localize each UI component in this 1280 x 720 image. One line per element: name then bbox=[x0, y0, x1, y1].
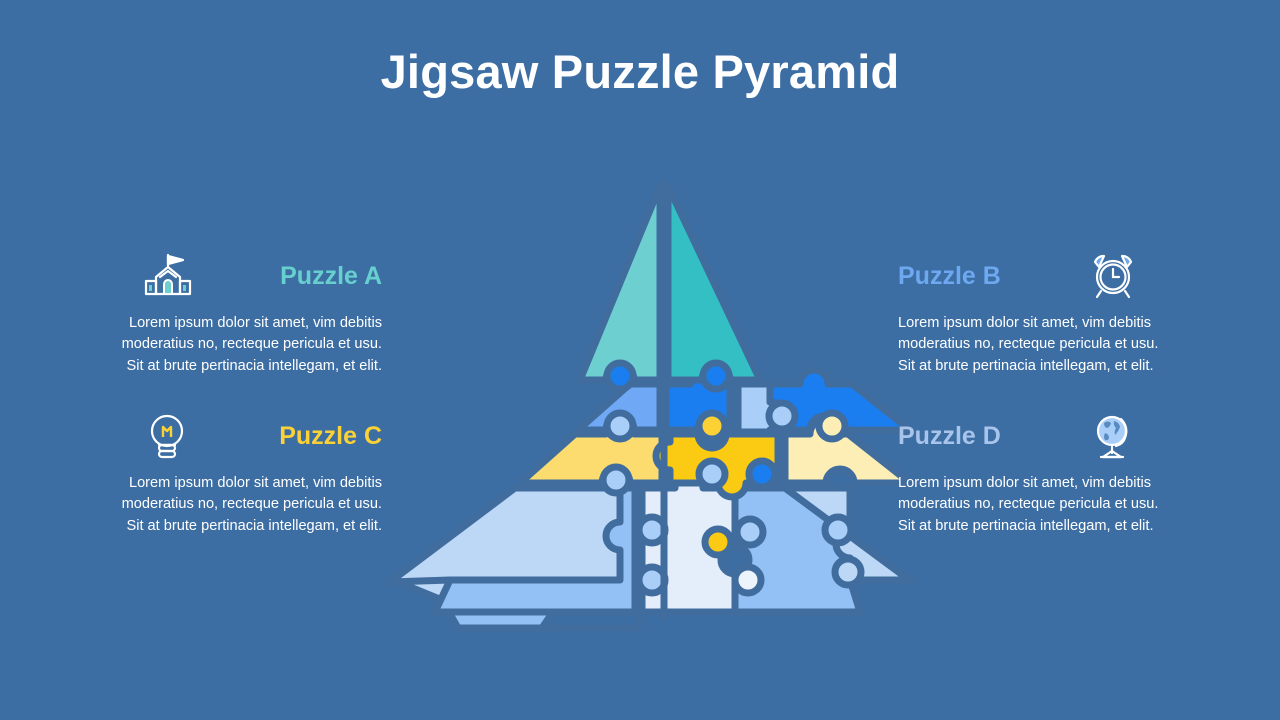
lightbulb-icon bbox=[139, 410, 195, 462]
knob-9 bbox=[603, 467, 629, 493]
page-title: Jigsaw Puzzle Pyramid bbox=[0, 44, 1280, 99]
block-body: Lorem ipsum dolor sit amet, vim debitis … bbox=[898, 473, 1218, 537]
knob-4 bbox=[607, 413, 633, 439]
body-line: Sit at brute pertinacia intellegam, et e… bbox=[898, 516, 1218, 537]
knob-12 bbox=[825, 517, 851, 543]
body-line: Sit at brute pertinacia intellegam, et e… bbox=[898, 356, 1218, 377]
block-header: Puzzle C bbox=[62, 408, 382, 464]
block-header: Puzzle B bbox=[898, 248, 1218, 304]
content-block-puzzle-c: Puzzle C Lorem ipsum dolor sit amet, vim… bbox=[62, 408, 382, 537]
knob-3 bbox=[769, 403, 795, 429]
piece-apex-left bbox=[580, 186, 660, 380]
knob-6 bbox=[819, 413, 845, 439]
knob-8 bbox=[749, 461, 775, 487]
block-body: Lorem ipsum dolor sit amet, vim debitis … bbox=[62, 313, 382, 377]
body-line: moderatius no, recteque pericula et usu. bbox=[62, 494, 382, 515]
block-header: Puzzle D bbox=[898, 408, 1218, 464]
body-line: moderatius no, recteque pericula et usu. bbox=[898, 334, 1218, 355]
tier-apex bbox=[580, 186, 760, 380]
body-line: moderatius no, recteque pericula et usu. bbox=[898, 494, 1218, 515]
slide-canvas: Jigsaw Puzzle Pyramid bbox=[0, 0, 1280, 720]
jigsaw-puzzle-pyramid bbox=[330, 150, 970, 670]
block-body: Lorem ipsum dolor sit amet, vim debitis … bbox=[62, 473, 382, 537]
block-title: Puzzle B bbox=[898, 264, 1001, 289]
body-line: Lorem ipsum dolor sit amet, vim debitis bbox=[62, 473, 382, 494]
block-title: Puzzle C bbox=[279, 424, 382, 449]
content-block-puzzle-b: Puzzle B Lorem ipsum dolor sit amet, vim… bbox=[898, 248, 1218, 377]
knob-13 bbox=[705, 529, 731, 555]
alarm-clock-icon bbox=[1085, 250, 1141, 302]
piece-base-1 bbox=[390, 488, 634, 582]
block-header: Puzzle A bbox=[62, 248, 382, 304]
knob-5 bbox=[699, 413, 725, 439]
globe-icon bbox=[1085, 410, 1141, 462]
knob-11 bbox=[737, 519, 763, 545]
knob-2 bbox=[703, 363, 729, 389]
content-block-puzzle-d: Puzzle D bbox=[898, 408, 1218, 537]
body-line: Lorem ipsum dolor sit amet, vim debitis bbox=[62, 313, 382, 334]
body-line: Sit at brute pertinacia intellegam, et e… bbox=[62, 516, 382, 537]
body-line: Sit at brute pertinacia intellegam, et e… bbox=[62, 356, 382, 377]
knob-1 bbox=[607, 363, 633, 389]
content-block-puzzle-a: Puzzle A Lorem ipsum dolor sit amet, vim… bbox=[62, 248, 382, 377]
body-line: Lorem ipsum dolor sit amet, vim debitis bbox=[898, 473, 1218, 494]
school-icon bbox=[140, 250, 196, 302]
knob-15 bbox=[735, 567, 761, 593]
piece-apex-right bbox=[668, 186, 760, 380]
body-line: Lorem ipsum dolor sit amet, vim debitis bbox=[898, 313, 1218, 334]
block-title: Puzzle D bbox=[898, 424, 1001, 449]
knob-7 bbox=[699, 461, 725, 487]
block-title: Puzzle A bbox=[280, 264, 382, 289]
block-body: Lorem ipsum dolor sit amet, vim debitis … bbox=[898, 313, 1218, 377]
knob-16 bbox=[835, 559, 861, 585]
body-line: moderatius no, recteque pericula et usu. bbox=[62, 334, 382, 355]
